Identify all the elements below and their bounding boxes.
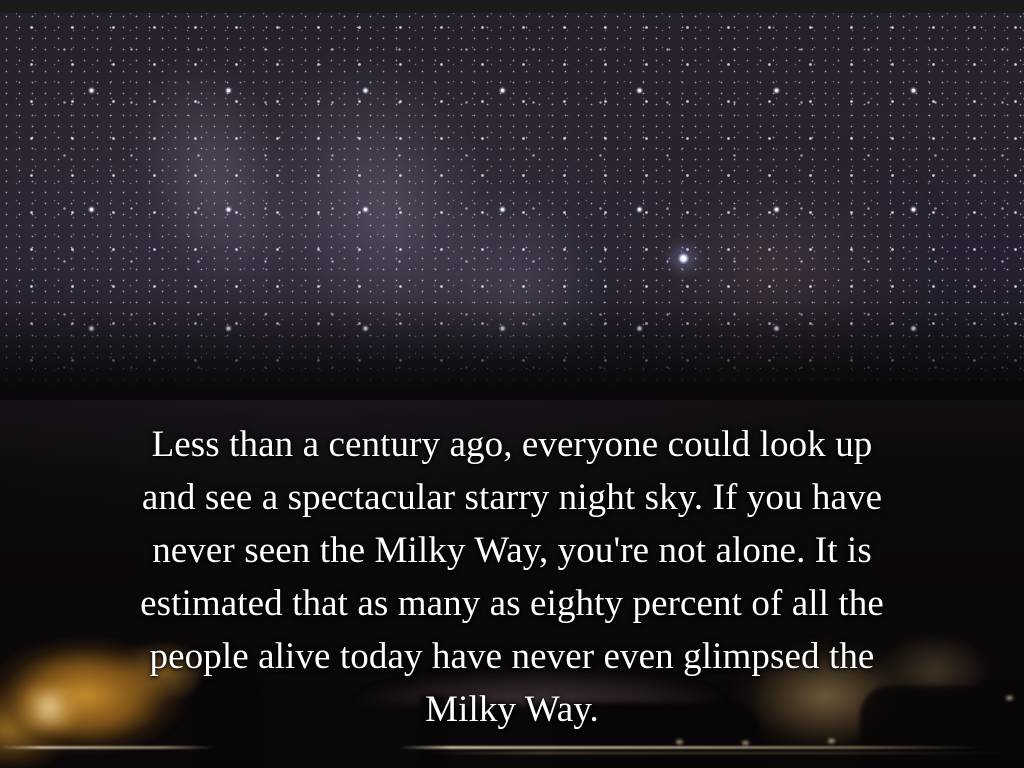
distant-light-a bbox=[676, 740, 683, 744]
caption-text-block: Less than a century ago, everyone could … bbox=[0, 385, 1024, 736]
caption-line: estimated that as many as eighty percent… bbox=[0, 577, 1024, 630]
caption-line: Less than a century ago, everyone could … bbox=[0, 418, 1024, 471]
caption-line: never seen the Milky Way, you're not alo… bbox=[0, 524, 1024, 577]
distant-light-b bbox=[742, 741, 749, 745]
slide: Less than a century ago, everyone could … bbox=[0, 0, 1024, 768]
distant-light-c bbox=[828, 739, 835, 743]
caption-line: and see a spectacular starry night sky. … bbox=[0, 471, 1024, 524]
road-light-streak bbox=[0, 746, 1024, 749]
top-letterbox-band bbox=[0, 0, 1024, 13]
caption-line: Milky Way. bbox=[0, 683, 1024, 736]
star-field-horizon-fade bbox=[0, 0, 1024, 400]
bright-star-icon bbox=[677, 252, 690, 265]
caption-line: people alive today have never even glimp… bbox=[0, 630, 1024, 683]
road-light-streak-secondary bbox=[420, 752, 1020, 754]
